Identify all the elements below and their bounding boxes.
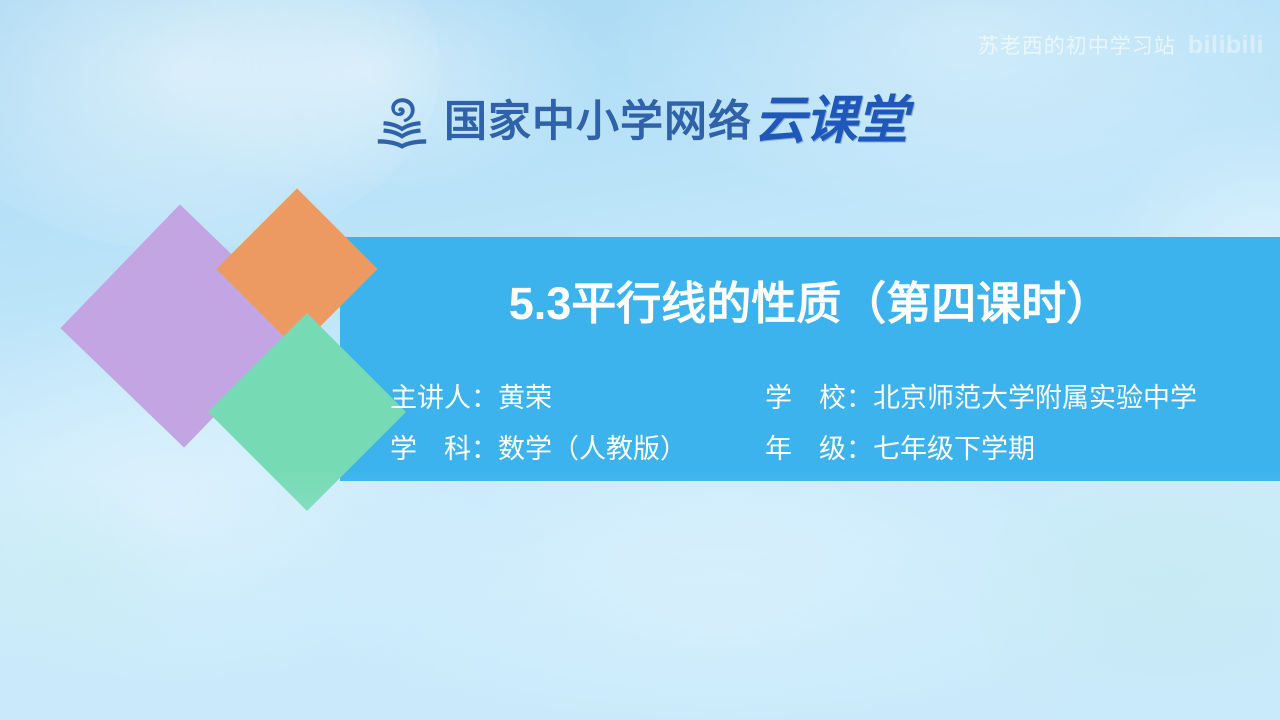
brand-name-script: 云课堂	[754, 96, 907, 148]
title-banner	[340, 237, 1280, 481]
cloud-wisp	[0, 470, 200, 690]
book-wave-icon	[374, 95, 430, 149]
cloud-wisp	[980, 440, 1280, 720]
watermark-uploader-name: 苏老西的初中学习站	[978, 30, 1176, 60]
bottom-haze	[0, 470, 1280, 720]
platform-brand: 国家中小学网络 云课堂	[374, 86, 907, 158]
slide-root: 苏老西的初中学习站 bilibili 国家中小学网络 云课堂 5.3平行线的性质…	[0, 0, 1280, 720]
uploader-watermark: 苏老西的初中学习站 bilibili	[978, 30, 1264, 60]
brand-name-regular: 国家中小学网络	[444, 101, 752, 144]
bilibili-logo: bilibili	[1188, 31, 1264, 60]
